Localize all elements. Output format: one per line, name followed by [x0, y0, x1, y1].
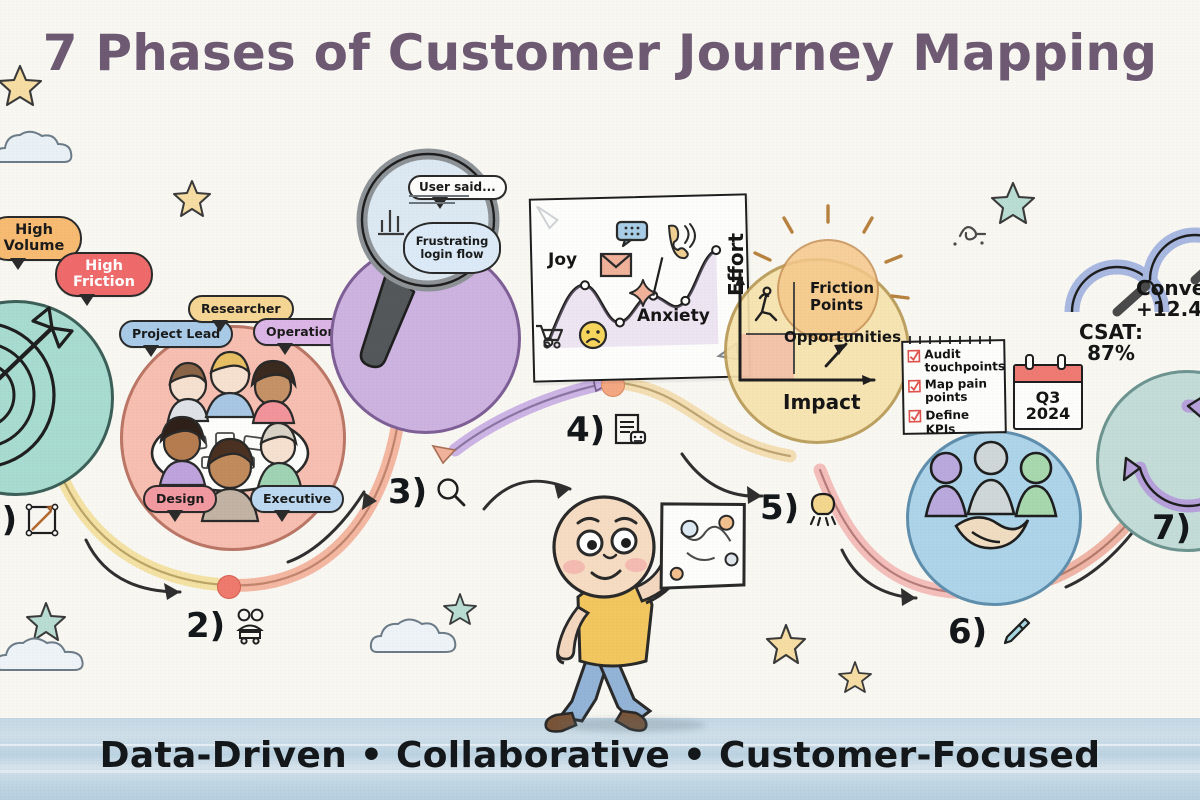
quote-lines-icon [405, 192, 479, 208]
phase-3-number[interactable]: 3) [388, 472, 467, 512]
frustrating-line2: login flow [420, 248, 483, 261]
phase-6-calendar: Q3 2024 [1013, 364, 1083, 430]
infographic-canvas: 7 Phases of Customer Journey Mapping [0, 0, 1200, 800]
star-bottomright-icon [838, 660, 872, 694]
opportunities-label: Opportunities [784, 328, 901, 346]
high-friction-bubble: High Friction [55, 252, 153, 297]
squiggle-decoration-icon [952, 210, 1012, 250]
spark-icon [628, 278, 658, 308]
calendar-year: 2024 [1026, 406, 1071, 422]
phase-1-label: 1) [0, 500, 17, 540]
handshake-icon [906, 430, 1076, 600]
star-top-icon [172, 178, 212, 218]
connector-dot-1 [217, 575, 241, 599]
checklist-item-2-line2: points [925, 390, 987, 404]
phase-5-number[interactable]: 5) [760, 488, 839, 528]
emotion-joy-label: Joy [548, 250, 577, 270]
phase-2-label: 2) [186, 606, 225, 646]
target-arrow-icon [0, 300, 106, 490]
conversion-label-line1: Conversion [1136, 278, 1200, 299]
checklist-item-3-line1: Define KPIs [925, 407, 1000, 436]
checkbox-checked-icon-1[interactable] [907, 350, 920, 363]
sad-face-icon [578, 320, 608, 350]
high-volume-line1: High [0, 223, 69, 239]
friction-points-label: Friction Points [810, 280, 876, 313]
role-bubble-design: Design [143, 485, 217, 513]
effort-axis-label: Effort [724, 233, 748, 296]
handshake-tool-icon [995, 616, 1031, 648]
checklist-item-1-line2: touchpoints [924, 360, 1005, 374]
cloud-topleft-icon [0, 122, 88, 170]
phase-6-label: 6) [948, 612, 987, 652]
phase-5-label: 5) [760, 488, 799, 528]
phase-1-number[interactable]: 1) [0, 500, 59, 540]
calendar-rings-icon [1013, 354, 1079, 370]
envelope-icon [599, 252, 633, 278]
target-arrow-small-icon [25, 503, 59, 537]
high-volume-line2: Volume [0, 239, 69, 255]
impact-axis-label: Impact [783, 390, 861, 414]
walking-character [530, 485, 760, 735]
cart-icon [533, 322, 565, 350]
conversion-label-line2: +12.4% [1136, 299, 1200, 320]
csat-gauge-label: CSAT: 87% [1076, 322, 1146, 364]
role-label-design: Design [156, 491, 204, 506]
chat-icon [615, 220, 649, 246]
phase-7-number[interactable]: 7) [1152, 508, 1200, 548]
frustrating-login-cloud-bubble: Frustrating login flow [403, 222, 501, 274]
role-label-executive: Executive [263, 491, 331, 506]
document-persona-icon [613, 412, 647, 448]
phase-2-number[interactable]: 2) [186, 606, 267, 646]
page-title: 7 Phases of Customer Journey Mapping [0, 24, 1200, 82]
checkbox-checked-icon-3[interactable] [908, 409, 921, 422]
insight-lightbulb-icon [807, 491, 839, 525]
role-label-researcher: Researcher [201, 301, 281, 316]
phase-6-number[interactable]: 6) [948, 612, 1031, 652]
phase-4-label: 4) [566, 410, 605, 450]
phase-7-label: 7) [1152, 508, 1191, 548]
role-label-project-lead: Project Lead [132, 326, 220, 341]
phase-3-label: 3) [388, 472, 427, 512]
magnifier-icon [435, 476, 467, 508]
checklist-items: Audit touchpoints Map pain points Define… [907, 347, 1001, 436]
role-bubble-executive: Executive [250, 485, 344, 513]
checklist-spiral-icon [902, 334, 1002, 346]
high-friction-line1: High [68, 259, 140, 275]
phase-4-number[interactable]: 4) [566, 410, 647, 450]
phone-icon [663, 222, 697, 252]
page-tagline: Data-Driven • Collaborative • Customer-F… [0, 735, 1200, 776]
conversion-gauge-label: Conversion +12.4% [1136, 278, 1200, 320]
stakeholder-group-icon [233, 608, 267, 644]
high-friction-line2: Friction [68, 275, 140, 291]
csat-label-line2: 87% [1076, 343, 1146, 364]
csat-label-line1: CSAT: [1076, 322, 1146, 343]
star-topleft-icon [0, 62, 44, 108]
checkbox-checked-icon-2[interactable] [908, 379, 921, 392]
character-shadow [556, 718, 706, 732]
emotion-anxiety-label: Anxiety [637, 306, 710, 326]
